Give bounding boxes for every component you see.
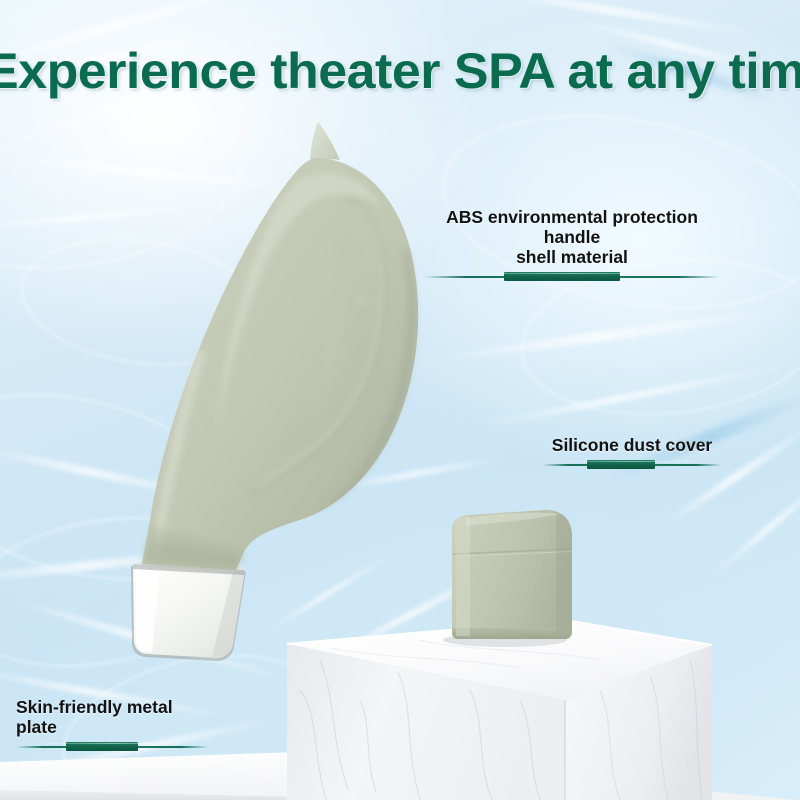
silicone-dust-cover-label-text: Silicone dust cover	[543, 435, 721, 455]
metal-plate-label-text: Skin-friendly metal plate	[16, 697, 208, 737]
ultrasonic-skin-scrubber	[0, 0, 800, 800]
metal-plate-label-rule	[16, 742, 208, 751]
product-banner: Experience theater SPA at any time ABS e…	[0, 0, 800, 800]
abs-handle-label-text: ABS environmental protection handle shel…	[424, 207, 720, 267]
abs-handle-label-rule	[424, 272, 720, 281]
metal-spatula-plate	[131, 564, 246, 661]
page-title: Experience theater SPA at any time	[0, 46, 800, 96]
silicone-dust-cover-label-rule	[543, 460, 721, 469]
silicone-dust-cover-label: Silicone dust cover	[543, 435, 721, 469]
metal-plate-label: Skin-friendly metal plate	[16, 697, 208, 751]
abs-handle-label: ABS environmental protection handle shel…	[424, 207, 720, 281]
